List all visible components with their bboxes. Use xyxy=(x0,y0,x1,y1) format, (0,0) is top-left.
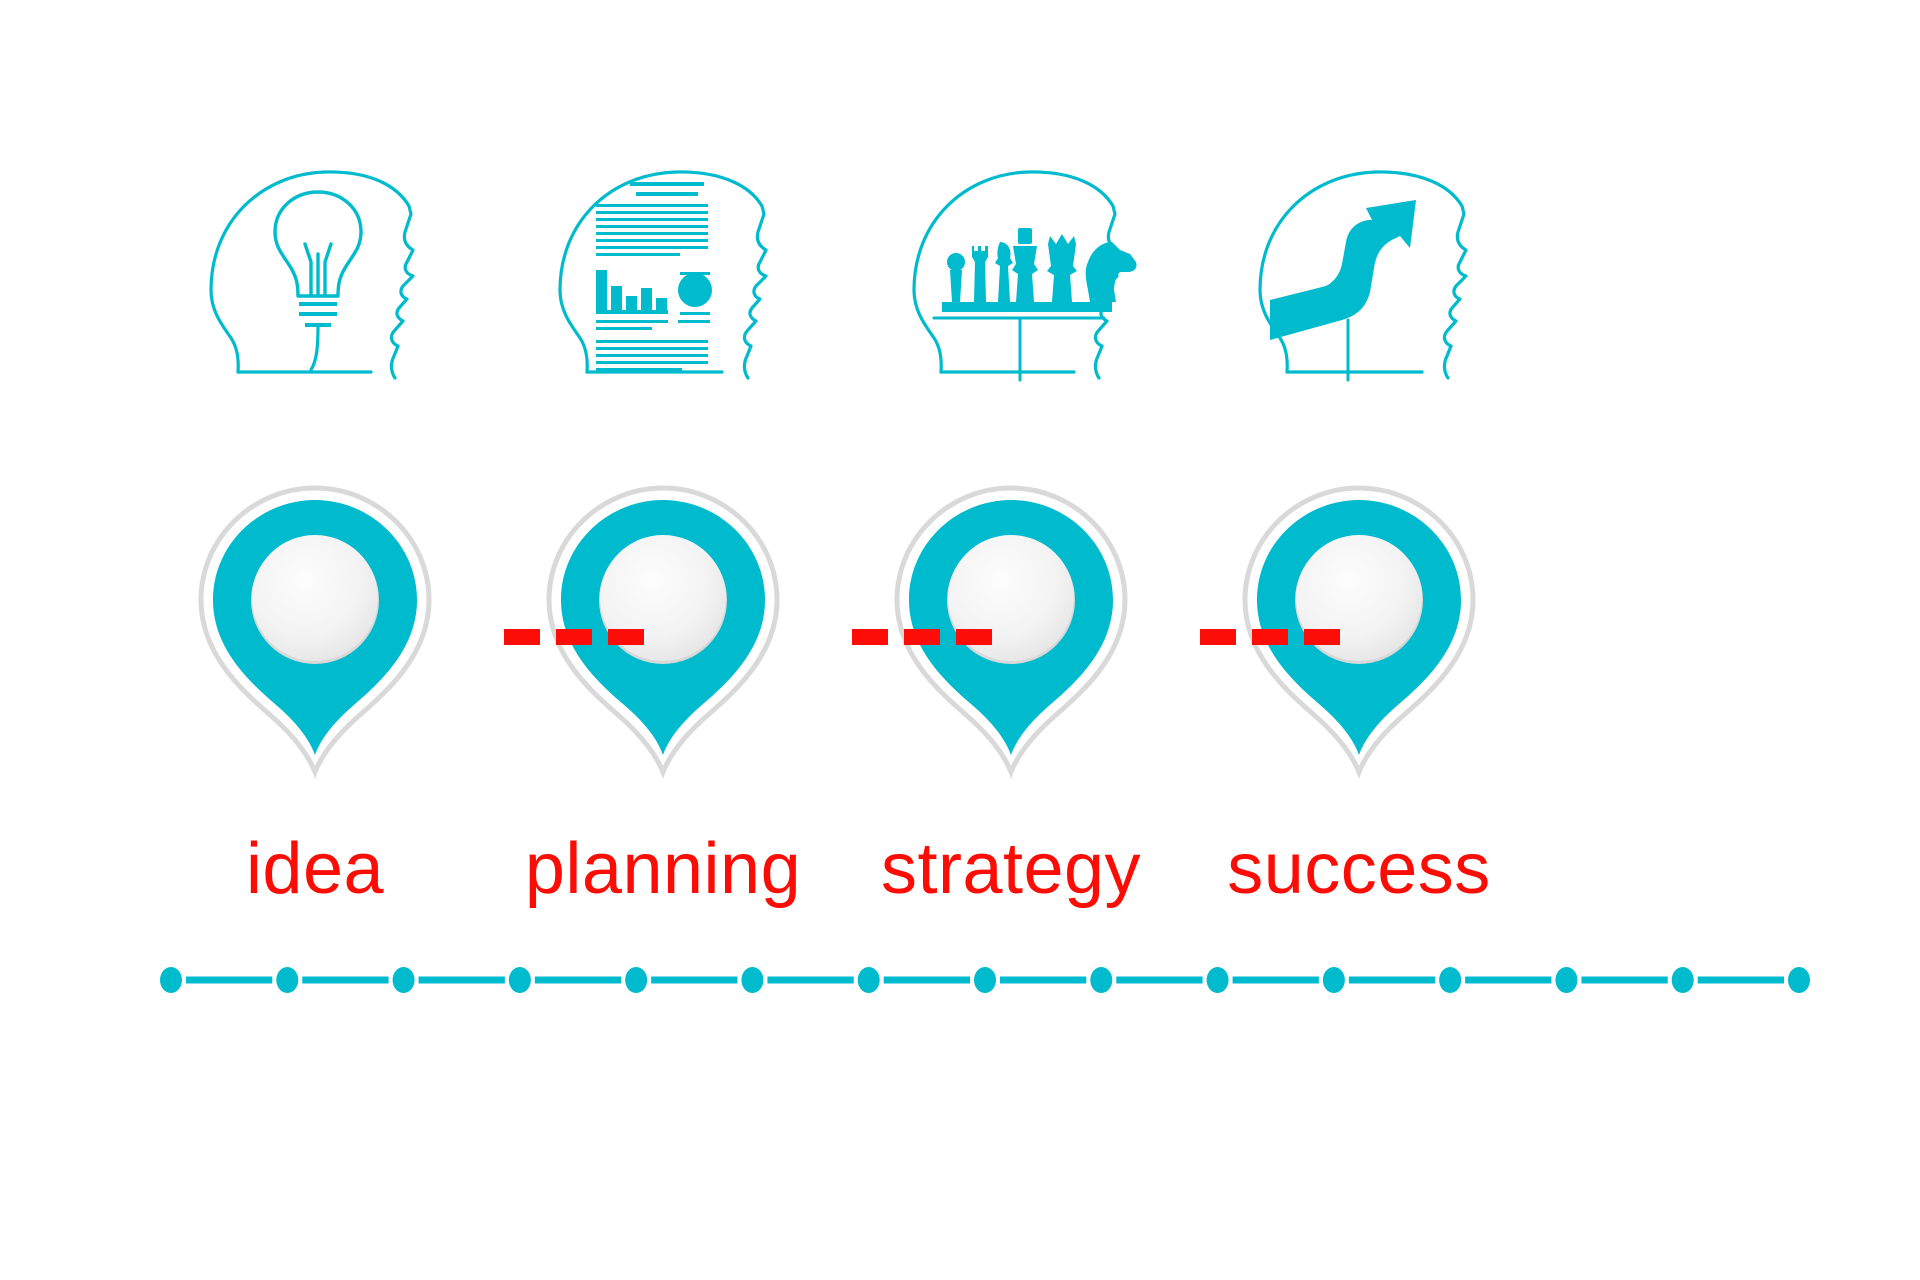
rail-segment xyxy=(419,977,505,984)
rail-segment xyxy=(767,977,853,984)
rail-dot xyxy=(1788,967,1810,993)
head-document-chart-icon xyxy=(530,150,830,390)
rail-segment xyxy=(535,977,621,984)
rail-segment xyxy=(651,977,737,984)
rail-dot xyxy=(625,967,647,993)
infographic-canvas: idea planning strategy success xyxy=(0,0,1920,1280)
step-label-success: success xyxy=(1159,826,1559,912)
bottom-dotted-rail xyxy=(160,960,1810,1000)
connector-strategy-success xyxy=(1200,629,1340,645)
rail-segment xyxy=(884,977,970,984)
head-icon-row xyxy=(0,150,1920,390)
head-lightbulb-icon xyxy=(175,150,475,390)
rail-dot xyxy=(1672,967,1694,993)
step-label-strategy: strategy xyxy=(811,826,1211,912)
dash-segment xyxy=(1200,629,1236,645)
rail-segment xyxy=(1349,977,1435,984)
rail-segment xyxy=(1698,977,1784,984)
pin-marker-idea[interactable] xyxy=(165,470,465,810)
connector-idea-planning xyxy=(504,629,644,645)
rail-segment xyxy=(1116,977,1202,984)
rail-dot xyxy=(1090,967,1112,993)
rail-dot xyxy=(509,967,531,993)
step-label-row: idea planning strategy success xyxy=(0,826,1920,916)
rail-segment xyxy=(1233,977,1319,984)
rail-dot xyxy=(1323,967,1345,993)
rail-dot xyxy=(858,967,880,993)
rail-segment xyxy=(1581,977,1667,984)
step-label-idea: idea xyxy=(115,826,515,912)
rail-segment xyxy=(302,977,388,984)
rail-dot xyxy=(393,967,415,993)
rail-dot xyxy=(974,967,996,993)
step-label-planning: planning xyxy=(463,826,863,912)
connector-planning-strategy xyxy=(852,629,992,645)
rail-segment xyxy=(1465,977,1551,984)
rail-segment xyxy=(1000,977,1086,984)
rail-dot xyxy=(1207,967,1229,993)
rail-dot xyxy=(276,967,298,993)
rail-dot xyxy=(1555,967,1577,993)
dash-segment xyxy=(956,629,992,645)
pin-marker-row xyxy=(0,470,1920,830)
rail-dot xyxy=(160,967,182,993)
dash-segment xyxy=(1304,629,1340,645)
dash-segment xyxy=(608,629,644,645)
dash-segment xyxy=(904,629,940,645)
head-growth-arrow-icon xyxy=(1230,150,1530,390)
dash-segment xyxy=(852,629,888,645)
rail-dot xyxy=(741,967,763,993)
dash-segment xyxy=(504,629,540,645)
rail-dot xyxy=(1439,967,1461,993)
rail-segment xyxy=(186,977,272,984)
head-chess-icon xyxy=(880,150,1180,390)
dash-segment xyxy=(1252,629,1288,645)
dash-segment xyxy=(556,629,592,645)
